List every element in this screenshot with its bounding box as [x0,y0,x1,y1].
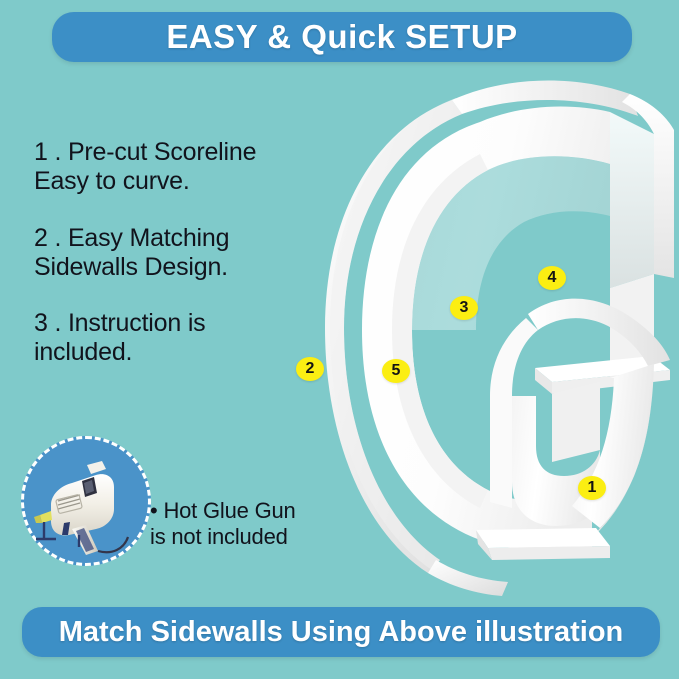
feature-3-line-2: included. [34,338,324,367]
badge-4[interactable]: 4 [538,266,566,290]
top-banner: EASY & Quick SETUP [52,12,632,62]
poster-canvas: EASY & Quick SETUP [0,0,679,679]
feature-item-1: 1 . Pre-cut Scoreline Easy to curve. [34,138,324,197]
feature-1-line-1: 1 . Pre-cut Scoreline [34,138,256,166]
bottom-banner-text: Match Sidewalls Using Above illustration [59,616,624,649]
feature-3-line-1: 3 . Instruction is [34,309,205,337]
badge-3[interactable]: 3 [450,296,478,320]
glue-gun-badge-circle [21,436,151,566]
feature-list: 1 . Pre-cut Scoreline Easy to curve. 2 .… [34,138,324,395]
feature-item-3: 3 . Instruction is included. [34,309,324,368]
glue-note-line-2: is not included [150,524,340,550]
glue-gun-note: • Hot Glue Gun is not included [150,498,340,551]
feature-2-line-1: 2 . Easy Matching [34,224,229,252]
feature-2-line-2: Sidewalls Design. [34,253,324,282]
feature-item-2: 2 . Easy Matching Sidewalls Design. [34,224,324,283]
bottom-banner: Match Sidewalls Using Above illustration [22,607,660,657]
bullet-icon: • [150,498,158,523]
bottom-foot-bar [476,528,610,560]
glue-note-line-1: Hot Glue Gun [163,498,295,523]
feature-1-line-2: Easy to curve. [34,167,324,196]
bottom-tail-strip [428,560,508,596]
glue-gun-icon [24,439,154,569]
badge-1[interactable]: 1 [578,476,606,500]
badge-5[interactable]: 5 [382,359,410,383]
top-banner-text: EASY & Quick SETUP [166,18,517,56]
